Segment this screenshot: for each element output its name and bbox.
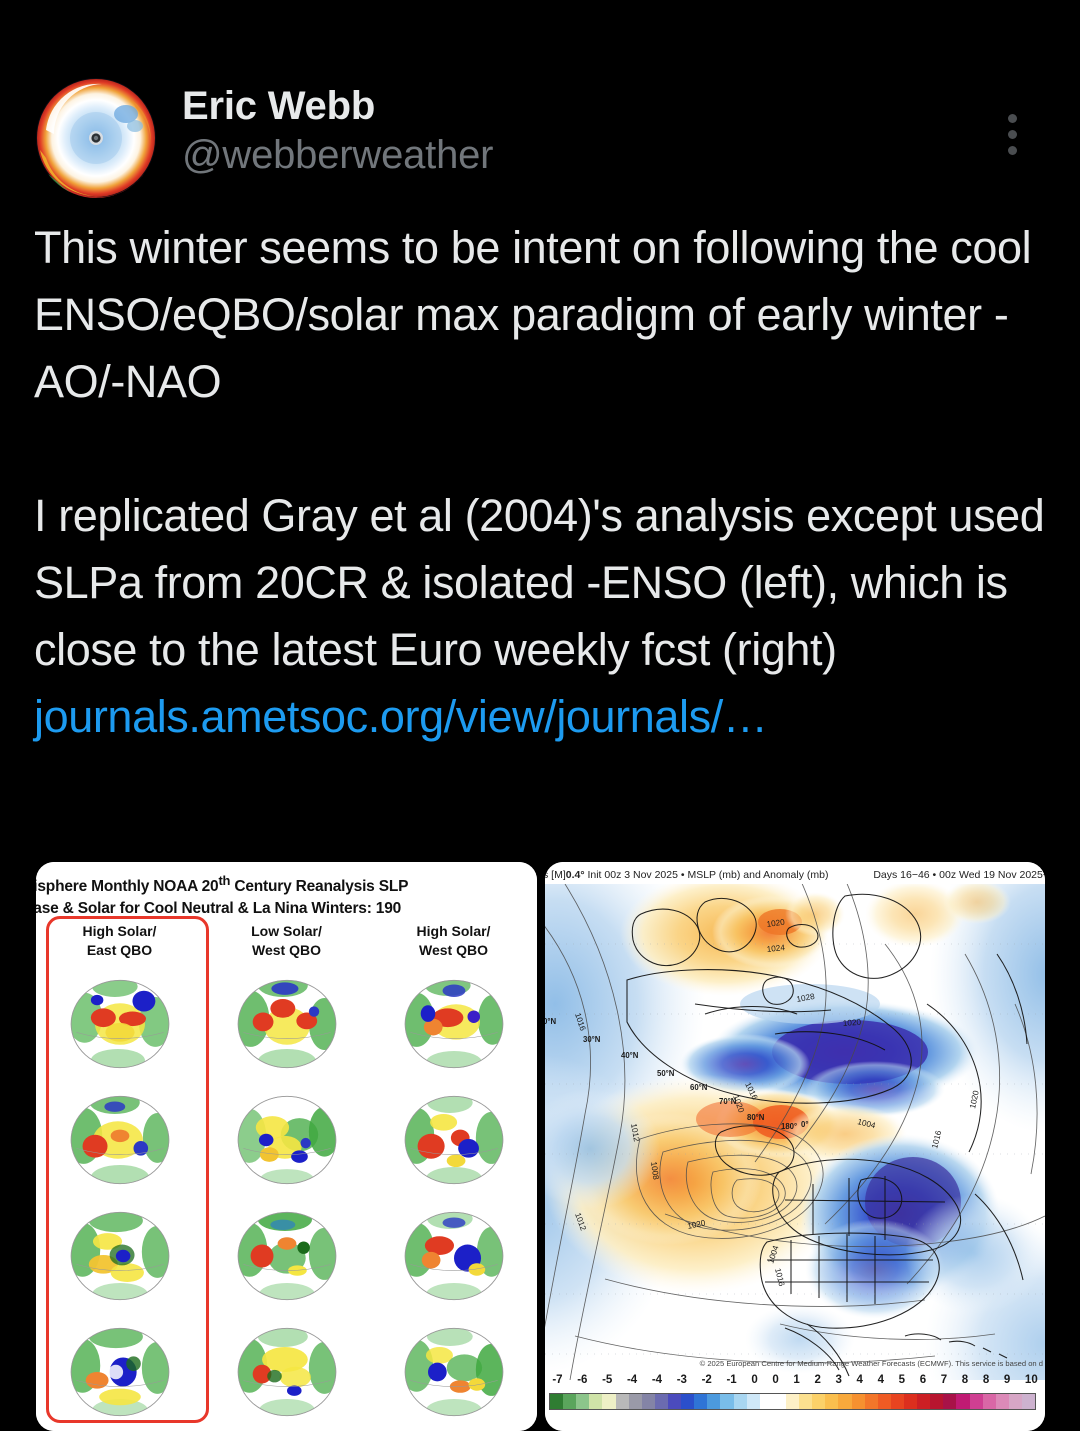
ecmwf-header: s [M]0.4° Init 00z 3 Nov 2025 • MSLP (mb… (545, 866, 1045, 886)
left-caption-line2: hase & Solar for Cool Neutral & La Nina … (36, 898, 537, 920)
colorbar-tick: -2 (694, 1374, 719, 1392)
colorbar-swatch (589, 1394, 602, 1409)
colorbar-swatch (668, 1394, 681, 1409)
colorbar-gradient (549, 1393, 1036, 1410)
left-figure-caption: hisphere Monthly NOAA 20th Century Reana… (36, 870, 537, 920)
longitude-label-180: 180° (781, 1122, 797, 1131)
latitude-label-50n: 50°N (657, 1069, 675, 1078)
account-names: Eric Webb @webberweather (182, 82, 493, 180)
column-header-low-solar-west-qbo: Low Solar/ West QBO (203, 922, 370, 960)
paragraph-spacer (34, 415, 1050, 482)
composite-map-r4c2 (203, 1314, 370, 1430)
colorbar-swatch (720, 1394, 733, 1409)
left-caption-line1: hisphere Monthly NOAA 20th Century Reana… (36, 878, 408, 895)
colorbar-swatch (904, 1394, 917, 1409)
composite-map-r4c3 (370, 1314, 537, 1430)
colorbar-tick: 7 (933, 1374, 954, 1392)
colorbar-swatch (812, 1394, 825, 1409)
colorbar-swatch (734, 1394, 747, 1409)
avatar[interactable] (36, 78, 156, 198)
colorbar-swatch (852, 1394, 865, 1409)
media-image-left[interactable]: hisphere Monthly NOAA 20th Century Reana… (36, 862, 537, 1431)
composite-map-r3c3 (370, 1198, 537, 1314)
colorbar-swatch (930, 1394, 943, 1409)
latitude-label-60n: 60°N (690, 1083, 708, 1092)
colorbar-tick-labels: -7 -6 -5 -4 -4 -3 -2 -1 0 0 1 2 3 4 (545, 1374, 1045, 1392)
media-image-right[interactable]: s [M]0.4° Init 00z 3 Nov 2025 • MSLP (mb… (545, 862, 1045, 1431)
colorbar-tick: 1 (786, 1374, 807, 1392)
colorbar-swatch (1022, 1394, 1035, 1409)
ecmwf-header-left: s [M]0.4° Init 00z 3 Nov 2025 • MSLP (mb… (545, 869, 828, 881)
more-options-dot (1008, 130, 1017, 139)
composite-map-r3c2 (203, 1198, 370, 1314)
composite-map-r1c1 (36, 966, 203, 1082)
tweet-header: Eric Webb @webberweather (36, 76, 1046, 200)
ecmwf-credit: © 2025 European Centre for Medium-Range … (545, 1359, 1043, 1373)
ecmwf-colorbar: -7 -6 -5 -4 -4 -3 -2 -1 0 0 1 2 3 4 (545, 1374, 1045, 1428)
latitude-label-30n: 30°N (583, 1035, 601, 1044)
composite-map-r4c1 (36, 1314, 203, 1430)
colorbar-tick: 5 (891, 1374, 912, 1392)
latitude-label-70n: 70°N (719, 1097, 737, 1106)
colorbar-tick: 10 (1018, 1374, 1045, 1392)
colorbar-tick: -5 (595, 1374, 620, 1392)
colorbar-swatch (1009, 1394, 1022, 1409)
colorbar-tick: 6 (912, 1374, 933, 1392)
composite-map-r2c1 (36, 1082, 203, 1198)
colorbar-swatch (956, 1394, 969, 1409)
colorbar-tick: -6 (570, 1374, 595, 1392)
colorbar-swatch (917, 1394, 930, 1409)
ordinal-suffix: th (218, 873, 230, 888)
colorbar-swatch (550, 1394, 563, 1409)
colorbar-tick: 8 (976, 1374, 997, 1392)
tweet-paragraph-2: I replicated Gray et al (2004)'s analysi… (34, 482, 1050, 683)
tweet-card: Eric Webb @webberweather This winter see… (0, 0, 1080, 1431)
isobar-label-1020b: 1020 (843, 1018, 862, 1028)
colorbar-swatch (602, 1394, 615, 1409)
tweet-media: hisphere Monthly NOAA 20th Century Reana… (36, 862, 1045, 1431)
tweet-paragraph-1: This winter seems to be intent on follow… (34, 214, 1050, 415)
hurricane-satellite-avatar-icon (36, 78, 156, 198)
colorbar-swatch (655, 1394, 668, 1409)
colorbar-swatch (629, 1394, 642, 1409)
colorbar-swatch (747, 1394, 760, 1409)
ecmwf-header-right: Days 16−46 • 00z Wed 19 Nov 2025− (873, 869, 1045, 881)
composite-map-r1c3 (370, 966, 537, 1082)
colorbar-swatch (773, 1394, 786, 1409)
ecmwf-mslp-anomaly-figure: s [M]0.4° Init 00z 3 Nov 2025 • MSLP (mb… (545, 862, 1045, 1431)
colorbar-swatch (786, 1394, 799, 1409)
colorbar-swatch (576, 1394, 589, 1409)
tweet-text: This winter seems to be intent on follow… (34, 214, 1050, 750)
colorbar-swatch (681, 1394, 694, 1409)
latitude-label-40n: 40°N (621, 1051, 639, 1060)
noaa-20cr-composite-figure: hisphere Monthly NOAA 20th Century Reana… (36, 862, 537, 1431)
colorbar-swatch (799, 1394, 812, 1409)
more-options-dot (1008, 114, 1017, 123)
tweet-link[interactable]: journals.ametsoc.org/view/journals/… (34, 683, 1050, 750)
more-options-dot (1008, 146, 1017, 155)
colorbar-swatch (891, 1394, 904, 1409)
colorbar-swatch (642, 1394, 655, 1409)
more-options-button[interactable] (994, 104, 1030, 164)
colorbar-swatch (943, 1394, 956, 1409)
composite-map-grid (36, 966, 537, 1431)
display-name[interactable]: Eric Webb (182, 82, 493, 130)
colorbar-tick: -3 (669, 1374, 694, 1392)
colorbar-swatch (825, 1394, 838, 1409)
colorbar-tick: 4 (849, 1374, 870, 1392)
column-header-high-solar-east-qbo: High Solar/ East QBO (36, 922, 203, 960)
colorbar-swatch (878, 1394, 891, 1409)
colorbar-tick: 4 (870, 1374, 891, 1392)
latitude-label-0n: 0°N (545, 1017, 556, 1026)
composite-map-r2c3 (370, 1082, 537, 1198)
account-handle[interactable]: @webberweather (182, 130, 493, 180)
colorbar-swatch (865, 1394, 878, 1409)
colorbar-tick: 0 (765, 1374, 786, 1392)
colorbar-swatch (563, 1394, 576, 1409)
colorbar-tick: 2 (807, 1374, 828, 1392)
longitude-label-0: 0° (801, 1120, 808, 1129)
colorbar-swatch (838, 1394, 851, 1409)
colorbar-tick: 0 (744, 1374, 765, 1392)
colorbar-tick: 8 (954, 1374, 975, 1392)
colorbar-tick: 3 (828, 1374, 849, 1392)
colorbar-swatch (983, 1394, 996, 1409)
composite-map-r2c2 (203, 1082, 370, 1198)
colorbar-tick: -4 (645, 1374, 670, 1392)
left-figure-column-headers: High Solar/ East QBO Low Solar/ West QBO… (36, 922, 537, 960)
ecmwf-map-canvas: 1020 1024 1028 1020 1016 1012 1008 1016 … (545, 884, 1045, 1380)
colorbar-tick: -7 (545, 1374, 570, 1392)
colorbar-tick: -1 (719, 1374, 744, 1392)
colorbar-swatch (760, 1394, 773, 1409)
colorbar-swatch (707, 1394, 720, 1409)
colorbar-swatch (694, 1394, 707, 1409)
column-header-high-solar-west-qbo: High Solar/ West QBO (370, 922, 537, 960)
ecmwf-map: 1020 1024 1028 1020 1016 1012 1008 1016 … (545, 884, 1045, 1380)
colorbar-swatch (996, 1394, 1009, 1409)
colorbar-swatch (970, 1394, 983, 1409)
colorbar-tick: 9 (997, 1374, 1018, 1392)
colorbar-swatch (616, 1394, 629, 1409)
composite-map-r3c1 (36, 1198, 203, 1314)
colorbar-tick: -4 (620, 1374, 645, 1392)
latitude-label-80n: 80°N (747, 1113, 765, 1122)
composite-map-r1c2 (203, 966, 370, 1082)
